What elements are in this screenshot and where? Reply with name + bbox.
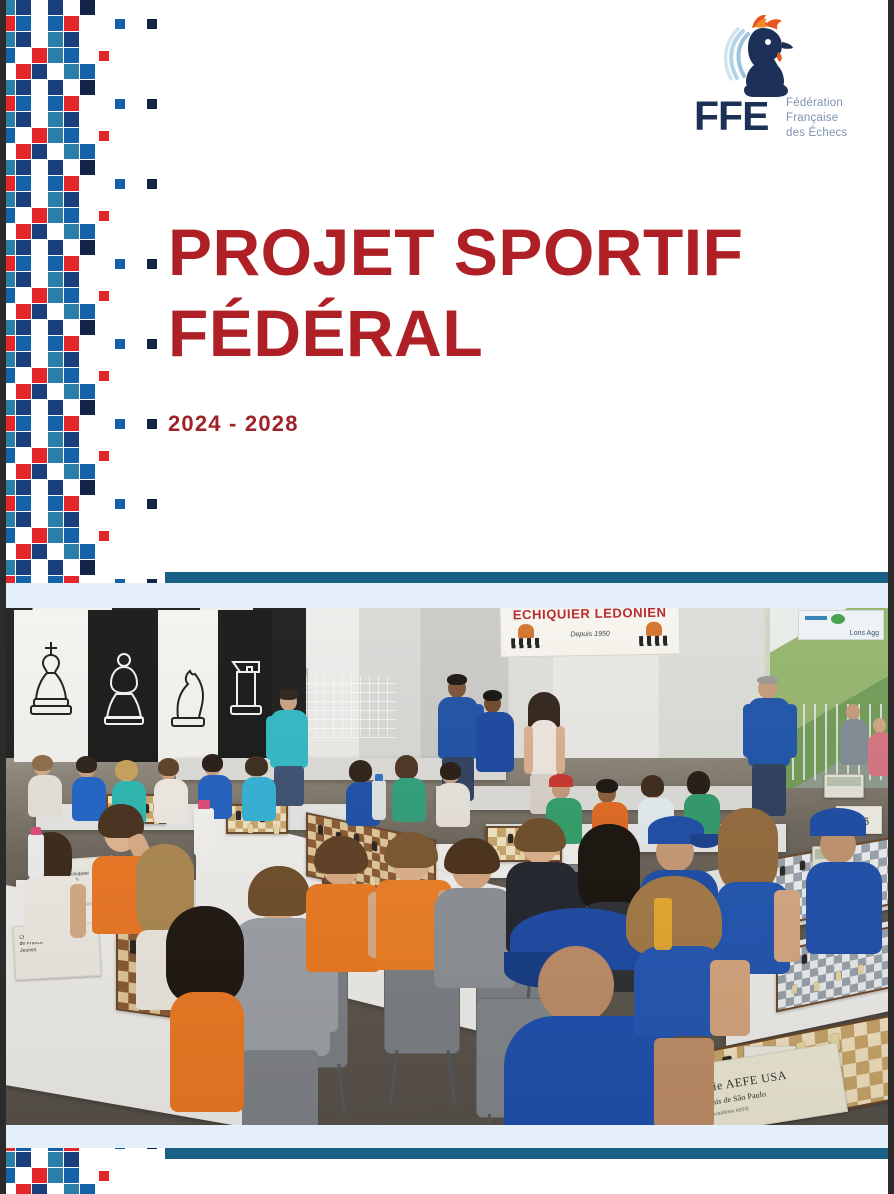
pattern-square bbox=[16, 16, 31, 31]
pattern-square bbox=[99, 291, 109, 301]
pattern-square bbox=[48, 32, 63, 47]
pattern-square bbox=[16, 64, 31, 79]
pattern-square bbox=[48, 176, 63, 191]
pattern-square bbox=[16, 112, 31, 127]
pattern-square bbox=[64, 64, 79, 79]
pattern-square bbox=[115, 99, 125, 109]
page-title-line-1: PROJET SPORTIF bbox=[168, 212, 743, 293]
pattern-square bbox=[99, 1171, 109, 1181]
pattern-square bbox=[147, 419, 157, 429]
pattern-square bbox=[80, 144, 95, 159]
pattern-square bbox=[16, 352, 31, 367]
pattern-square bbox=[80, 320, 95, 335]
club-banner: ECHIQUIER LEDONIEN Depuis 1950 bbox=[500, 608, 681, 658]
pattern-square bbox=[147, 499, 157, 509]
pattern-square bbox=[48, 128, 63, 143]
pattern-square bbox=[16, 160, 31, 175]
light-band-below-photo bbox=[6, 1125, 888, 1148]
pattern-square bbox=[32, 1184, 47, 1194]
ffe-name-line-2: Française bbox=[786, 111, 847, 126]
pattern-square bbox=[48, 208, 63, 223]
pattern-square bbox=[80, 0, 95, 15]
pattern-square bbox=[48, 1168, 63, 1183]
pattern-square bbox=[64, 432, 79, 447]
pattern-square bbox=[64, 416, 79, 431]
water-bottle-4 bbox=[654, 898, 672, 950]
divider-rule-bottom bbox=[165, 1148, 888, 1159]
pattern-square bbox=[32, 384, 47, 399]
venue-sign-text: Lons Agg bbox=[850, 630, 879, 637]
pattern-square bbox=[48, 528, 63, 543]
pattern-square bbox=[48, 368, 63, 383]
decorative-checker-pattern-top bbox=[0, 0, 170, 588]
pattern-square bbox=[64, 1168, 79, 1183]
pattern-square bbox=[64, 304, 79, 319]
pattern-square bbox=[64, 528, 79, 543]
pattern-square bbox=[64, 496, 79, 511]
pattern-square bbox=[115, 19, 125, 29]
pattern-square bbox=[64, 544, 79, 559]
pattern-square bbox=[64, 128, 79, 143]
ffe-acronym: FFE bbox=[694, 96, 768, 137]
banner-flag-black-1 bbox=[88, 610, 158, 762]
cover-photograph: ECHIQUIER LEDONIEN Depuis 1950 Lons Agg bbox=[6, 608, 888, 1125]
pattern-square bbox=[32, 224, 47, 239]
ffe-name-line-3: des Échecs bbox=[786, 126, 847, 141]
water-bottle-2 bbox=[194, 808, 214, 856]
pattern-square bbox=[64, 176, 79, 191]
pattern-square bbox=[80, 1184, 95, 1194]
pattern-square bbox=[99, 451, 109, 461]
pattern-square bbox=[48, 320, 63, 335]
volleyball-net bbox=[306, 676, 396, 738]
pattern-square bbox=[48, 416, 63, 431]
pattern-square bbox=[48, 48, 63, 63]
rook-outline-icon bbox=[228, 656, 264, 732]
pattern-square bbox=[80, 400, 95, 415]
pattern-square bbox=[80, 560, 95, 575]
pattern-square bbox=[32, 208, 47, 223]
pattern-square bbox=[64, 288, 79, 303]
page-edge-right bbox=[888, 0, 894, 1194]
pattern-square bbox=[16, 256, 31, 271]
pattern-square bbox=[32, 368, 47, 383]
pattern-square bbox=[64, 16, 79, 31]
pattern-square bbox=[16, 416, 31, 431]
pattern-square bbox=[48, 272, 63, 287]
pattern-square bbox=[48, 80, 63, 95]
pattern-square bbox=[32, 128, 47, 143]
pattern-square bbox=[80, 160, 95, 175]
pattern-square bbox=[48, 288, 63, 303]
ffe-name-line-1: Fédération bbox=[786, 96, 847, 111]
pattern-square bbox=[16, 560, 31, 575]
pattern-square bbox=[16, 176, 31, 191]
pattern-square bbox=[64, 112, 79, 127]
pattern-square bbox=[147, 259, 157, 269]
pattern-square bbox=[16, 480, 31, 495]
chess-clock-3 bbox=[824, 774, 864, 798]
pattern-square bbox=[32, 64, 47, 79]
pattern-square bbox=[16, 192, 31, 207]
pattern-square bbox=[115, 419, 125, 429]
banner-flag-white-1 bbox=[14, 610, 88, 762]
document-cover-page: FFE Fédération Française des Échecs PROJ… bbox=[0, 0, 894, 1194]
pattern-square bbox=[16, 464, 31, 479]
pattern-square bbox=[80, 464, 95, 479]
pattern-square bbox=[80, 64, 95, 79]
pattern-square bbox=[80, 544, 95, 559]
pattern-square bbox=[48, 400, 63, 415]
pattern-square bbox=[16, 96, 31, 111]
pattern-square bbox=[64, 464, 79, 479]
king-outline-icon bbox=[28, 638, 74, 734]
pattern-square bbox=[99, 131, 109, 141]
page-subtitle-years: 2024 - 2028 bbox=[168, 411, 743, 437]
pattern-square bbox=[147, 179, 157, 189]
pattern-square bbox=[64, 384, 79, 399]
pattern-square bbox=[48, 432, 63, 447]
pattern-square bbox=[16, 512, 31, 527]
pattern-square bbox=[48, 160, 63, 175]
pattern-square bbox=[64, 448, 79, 463]
pattern-square bbox=[48, 512, 63, 527]
pattern-square bbox=[32, 464, 47, 479]
water-bottle-3 bbox=[372, 780, 386, 820]
pattern-square bbox=[80, 480, 95, 495]
pattern-square bbox=[64, 368, 79, 383]
pattern-square bbox=[16, 496, 31, 511]
pattern-square bbox=[147, 19, 157, 29]
pattern-square bbox=[64, 192, 79, 207]
pattern-square bbox=[32, 544, 47, 559]
pattern-square bbox=[48, 112, 63, 127]
pattern-square bbox=[16, 1152, 31, 1167]
pattern-square bbox=[80, 240, 95, 255]
pattern-square bbox=[64, 256, 79, 271]
pattern-square bbox=[64, 272, 79, 287]
pattern-square bbox=[80, 384, 95, 399]
pattern-square bbox=[16, 320, 31, 335]
pattern-square bbox=[64, 352, 79, 367]
pattern-square bbox=[16, 224, 31, 239]
pattern-square bbox=[16, 240, 31, 255]
pattern-square bbox=[16, 400, 31, 415]
club-crest-left-icon bbox=[511, 622, 541, 649]
pattern-square bbox=[48, 480, 63, 495]
pattern-square bbox=[80, 80, 95, 95]
pattern-square bbox=[64, 1184, 79, 1194]
pattern-square bbox=[16, 272, 31, 287]
bishop-outline-icon bbox=[102, 650, 146, 738]
pattern-square bbox=[64, 96, 79, 111]
pattern-square bbox=[16, 0, 31, 15]
pattern-square bbox=[48, 256, 63, 271]
pattern-square bbox=[48, 336, 63, 351]
banner-flag-white-2 bbox=[158, 610, 218, 762]
light-band-above-photo bbox=[6, 583, 888, 608]
cover-title-block: PROJET SPORTIF FÉDÉRAL 2024 - 2028 bbox=[168, 212, 743, 437]
pattern-square bbox=[16, 544, 31, 559]
pattern-square bbox=[32, 48, 47, 63]
pattern-square bbox=[48, 496, 63, 511]
pattern-square bbox=[115, 499, 125, 509]
pattern-square bbox=[147, 99, 157, 109]
pattern-square bbox=[48, 192, 63, 207]
page-title-line-2: FÉDÉRAL bbox=[168, 293, 743, 374]
pattern-square bbox=[16, 336, 31, 351]
pattern-square bbox=[16, 384, 31, 399]
knight-outline-icon bbox=[166, 652, 210, 734]
pattern-square bbox=[115, 179, 125, 189]
pattern-square bbox=[48, 240, 63, 255]
club-crest-right-icon bbox=[639, 620, 669, 647]
pattern-square bbox=[99, 531, 109, 541]
pattern-square bbox=[64, 224, 79, 239]
pattern-square bbox=[16, 304, 31, 319]
pattern-square bbox=[64, 336, 79, 351]
pattern-square bbox=[80, 304, 95, 319]
pattern-square bbox=[16, 432, 31, 447]
pattern-square bbox=[99, 371, 109, 381]
pattern-square bbox=[64, 512, 79, 527]
pattern-square bbox=[147, 339, 157, 349]
banner-flag-black-2 bbox=[218, 610, 272, 762]
ffe-full-name: Fédération Française des Échecs bbox=[786, 96, 847, 142]
pattern-square bbox=[32, 528, 47, 543]
pattern-square bbox=[32, 288, 47, 303]
pattern-square bbox=[16, 1184, 31, 1194]
ffe-logo: FFE Fédération Française des Échecs bbox=[694, 12, 870, 140]
pattern-square bbox=[32, 1168, 47, 1183]
pattern-square bbox=[99, 51, 109, 61]
pattern-square bbox=[99, 211, 109, 221]
pattern-square bbox=[115, 259, 125, 269]
water-bottle-1 bbox=[28, 834, 44, 878]
pattern-square bbox=[64, 1152, 79, 1167]
pattern-square bbox=[48, 0, 63, 15]
pattern-square bbox=[48, 96, 63, 111]
pattern-square bbox=[16, 32, 31, 47]
pattern-square bbox=[115, 339, 125, 349]
pattern-square bbox=[48, 560, 63, 575]
pattern-square bbox=[32, 448, 47, 463]
divider-rule-top bbox=[165, 572, 888, 583]
venue-sign: Lons Agg bbox=[798, 610, 884, 640]
pattern-square bbox=[80, 224, 95, 239]
pattern-square bbox=[32, 304, 47, 319]
pattern-square bbox=[32, 144, 47, 159]
pattern-square bbox=[64, 208, 79, 223]
pattern-square bbox=[48, 16, 63, 31]
pattern-square bbox=[48, 1152, 63, 1167]
pattern-square bbox=[64, 144, 79, 159]
pattern-square bbox=[48, 448, 63, 463]
pattern-square bbox=[16, 80, 31, 95]
pattern-square bbox=[64, 32, 79, 47]
pattern-square bbox=[16, 144, 31, 159]
page-edge-left bbox=[0, 0, 6, 1194]
pattern-square bbox=[48, 352, 63, 367]
ffe-rooster-chess-king-icon bbox=[708, 12, 804, 100]
pattern-square bbox=[64, 48, 79, 63]
